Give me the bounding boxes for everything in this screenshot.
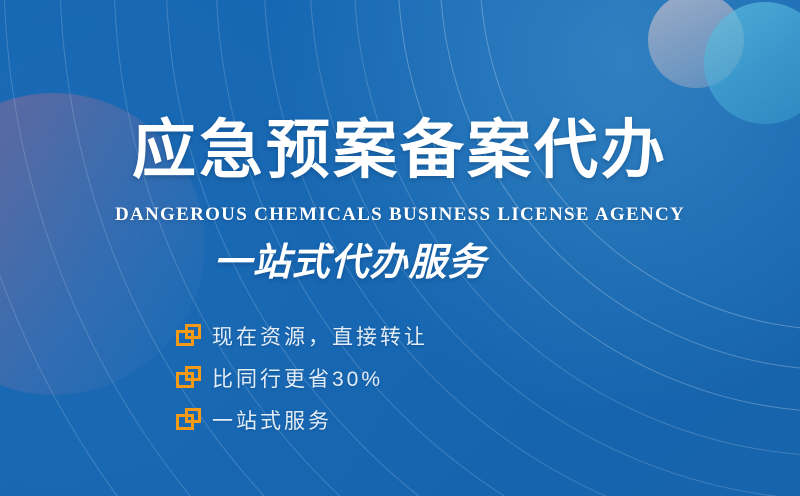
list-item-label: 比同行更省30% — [212, 363, 383, 393]
list-item: 比同行更省30% — [176, 358, 428, 398]
page-title: 应急预案备案代办 — [0, 118, 800, 182]
overlapping-squares-icon — [176, 408, 202, 432]
list-item-label: 现在资源，直接转让 — [212, 321, 428, 351]
banner-content: 应急预案备案代办 DANGEROUS CHEMICALS BUSINESS LI… — [0, 0, 800, 496]
list-item: 一站式服务 — [176, 400, 428, 440]
overlapping-squares-icon — [176, 324, 202, 348]
overlapping-squares-icon — [176, 366, 202, 390]
feature-list: 现在资源，直接转让 比同行更省30% 一站式服务 — [176, 316, 428, 442]
promo-banner: 应急预案备案代办 DANGEROUS CHEMICALS BUSINESS LI… — [0, 0, 800, 496]
subtitle-english: DANGEROUS CHEMICALS BUSINESS LICENSE AGE… — [0, 204, 800, 226]
slogan: 一站式代办服务 — [0, 243, 700, 285]
list-item-label: 一站式服务 — [212, 405, 332, 435]
list-item: 现在资源，直接转让 — [176, 316, 428, 356]
